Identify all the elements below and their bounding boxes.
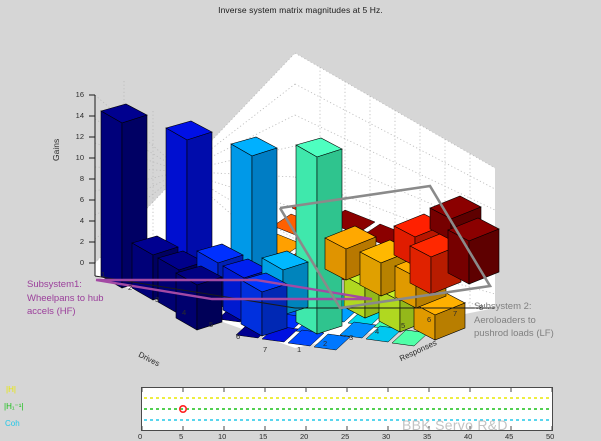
annotation-subsystem1: Subsystem1: Wheelpans to hub accels (HF) — [27, 278, 104, 319]
z-tick-6: 6 — [68, 195, 84, 204]
watermark: BBK Servo R&D — [402, 417, 508, 433]
bottom-x-tick-30: 30 — [382, 432, 390, 441]
legend-label-coh: Coh — [5, 419, 20, 428]
annotation-subsystem2: Subsystem 2: Aeroloaders to pushrod load… — [474, 300, 554, 341]
y-tick-5: 5 — [209, 320, 213, 329]
x-tick-3: 3 — [349, 333, 353, 342]
z-tick-16: 16 — [64, 90, 84, 99]
figure-canvas: Inverse system matrix magnitudes at 5 Hz… — [0, 0, 601, 441]
z-tick-0: 0 — [68, 258, 84, 267]
bottom-x-tick-5: 5 — [179, 432, 183, 441]
x-tick-5: 5 — [401, 321, 405, 330]
bottom-x-tick-35: 35 — [423, 432, 431, 441]
z-tick-10: 10 — [64, 153, 84, 162]
chart-title: Inverse system matrix magnitudes at 5 Hz… — [0, 5, 601, 15]
y-tick-4: 4 — [182, 308, 186, 317]
y-tick-2: 2 — [128, 283, 132, 292]
x-tick-7: 7 — [453, 309, 457, 318]
z-tick-2: 2 — [68, 237, 84, 246]
bottom-x-tick-20: 20 — [300, 432, 308, 441]
bottom-x-tick-50: 50 — [546, 432, 554, 441]
x-tick-6: 6 — [427, 315, 431, 324]
bottom-x-tick-15: 15 — [259, 432, 267, 441]
bottom-x-tick-10: 10 — [218, 432, 226, 441]
z-ticks — [89, 95, 95, 263]
y-tick-7: 7 — [263, 345, 267, 354]
z-tick-12: 12 — [64, 132, 84, 141]
bottom-x-tick-25: 25 — [341, 432, 349, 441]
bottom-x-tick-45: 45 — [505, 432, 513, 441]
x-tick-2: 2 — [323, 339, 327, 348]
z-tick-4: 4 — [68, 216, 84, 225]
y-tick-3: 3 — [155, 295, 159, 304]
x-tick-1: 1 — [297, 345, 301, 354]
z-tick-14: 14 — [64, 111, 84, 120]
x-tick-4: 4 — [375, 327, 379, 336]
legend-label-hinv: |H₁⁻¹| — [4, 402, 24, 411]
z-tick-8: 8 — [68, 174, 84, 183]
y-tick-6: 6 — [236, 332, 240, 341]
z-axis-label: Gains — [51, 139, 61, 161]
bottom-x-tick-0: 0 — [138, 432, 142, 441]
legend-label-h: |H| — [6, 385, 16, 394]
bottom-x-tick-40: 40 — [464, 432, 472, 441]
